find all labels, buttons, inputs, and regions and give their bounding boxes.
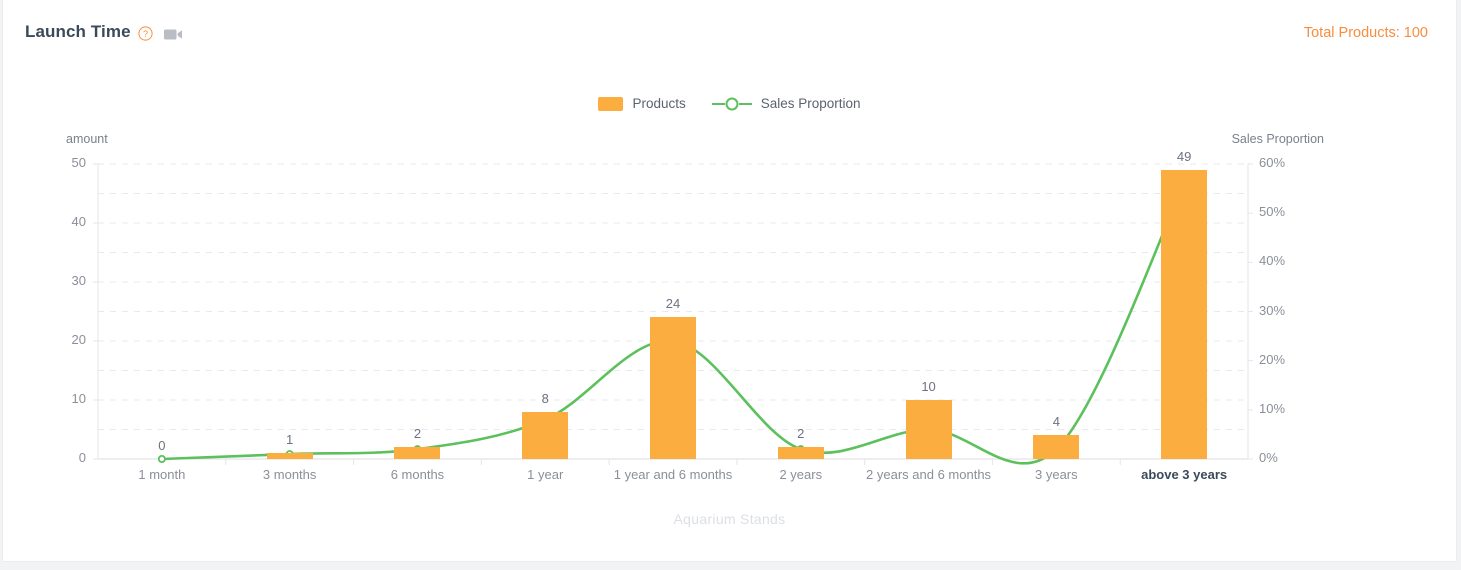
chart-bar-value-label: 2 (414, 426, 421, 441)
x-axis-tick: 1 year and 6 months (614, 467, 733, 482)
chart-bar[interactable] (778, 447, 824, 459)
sales-proportion-line (3, 0, 1458, 562)
y-axis-right-tick: 40% (1259, 253, 1305, 268)
y-axis-left-tick: 40 (46, 214, 86, 229)
title-group: Launch Time ? (25, 22, 183, 42)
y-axis-left-tick: 0 (46, 450, 86, 465)
chart-gridlines (3, 0, 1458, 562)
chart-watermark: Aquarium Stands (3, 511, 1456, 527)
chart-legend: Products Sales Proportion (3, 96, 1456, 111)
legend-item-sales-proportion[interactable]: Sales Proportion (712, 96, 861, 111)
chart-bar-value-label: 4 (1053, 414, 1060, 429)
chart-plot-area: amount Sales Proportion 010203040500%10%… (3, 0, 1458, 562)
chart-bar-value-label: 0 (158, 438, 165, 453)
x-axis-tick: 3 years (1035, 467, 1078, 482)
chart-bar-value-label: 1 (286, 432, 293, 447)
svg-text:?: ? (143, 29, 148, 39)
x-axis-tick: above 3 years (1141, 467, 1227, 482)
legend-label-sales-proportion: Sales Proportion (761, 96, 861, 111)
chart-bar[interactable] (267, 453, 313, 459)
chart-bar-value-label: 2 (797, 426, 804, 441)
y-axis-left-tick: 10 (46, 391, 86, 406)
chart-bar[interactable] (1161, 170, 1207, 459)
question-circle-icon[interactable]: ? (138, 26, 153, 41)
y-axis-right-tick: 50% (1259, 204, 1305, 219)
page-title: Launch Time (25, 22, 131, 42)
chart-bar[interactable] (906, 400, 952, 459)
chart-bar-value-label: 49 (1177, 149, 1191, 164)
chart-bar[interactable] (394, 447, 440, 459)
legend-item-products[interactable]: Products (598, 96, 685, 111)
y-axis-right-tick: 0% (1259, 450, 1305, 465)
y-axis-right-tick: 30% (1259, 303, 1305, 318)
chart-bar-value-label: 8 (542, 391, 549, 406)
card-header: Launch Time ? Total Products: 100 (3, 0, 1456, 58)
x-axis-tick: 3 months (263, 467, 316, 482)
legend-label-products: Products (632, 96, 685, 111)
chart-bar-value-label: 24 (666, 296, 680, 311)
x-axis-tick: 6 months (391, 467, 444, 482)
y-axis-right-title: Sales Proportion (1232, 132, 1324, 146)
y-axis-right-tick: 20% (1259, 352, 1305, 367)
chart-bar[interactable] (1033, 435, 1079, 459)
total-products-label: Total Products: 100 (1304, 25, 1428, 41)
y-axis-left-tick: 50 (46, 155, 86, 170)
chart-bar[interactable] (650, 317, 696, 459)
y-axis-left-tick: 20 (46, 332, 86, 347)
chart-bar-value-label: 10 (921, 379, 935, 394)
y-axis-right-tick: 10% (1259, 401, 1305, 416)
legend-line-sales-proportion (712, 97, 752, 111)
chart-bar[interactable] (522, 412, 568, 459)
legend-swatch-products (598, 97, 623, 111)
x-axis-tick: 2 years and 6 months (866, 467, 991, 482)
video-camera-icon[interactable] (164, 28, 183, 41)
y-axis-left-title: amount (66, 132, 108, 146)
x-axis-tick: 2 years (779, 467, 822, 482)
x-axis-tick: 1 month (138, 467, 185, 482)
y-axis-left-tick: 30 (46, 273, 86, 288)
x-axis-tick: 1 year (527, 467, 563, 482)
y-axis-right-tick: 60% (1259, 155, 1305, 170)
launch-time-card: Launch Time ? Total Products: 100 Produc… (2, 0, 1457, 562)
